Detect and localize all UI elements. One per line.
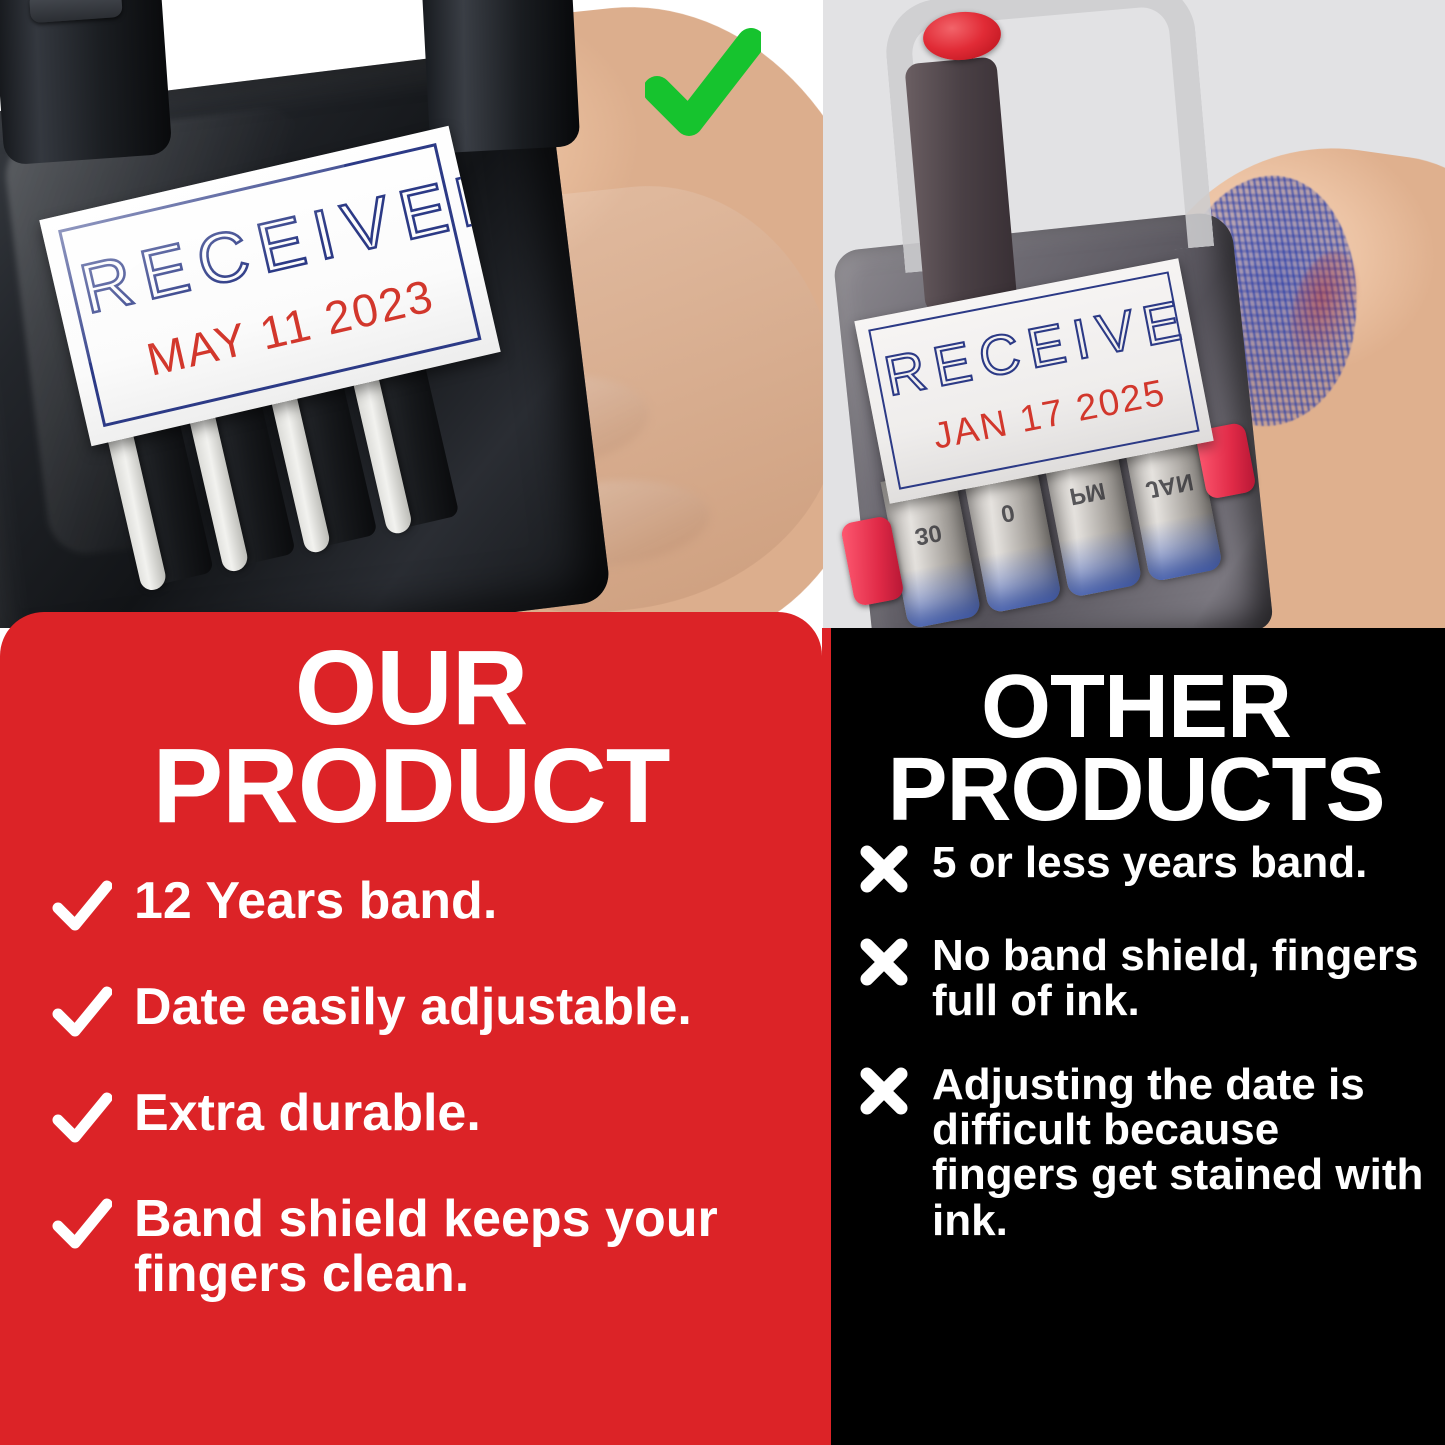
other-products-heading-line2: PRODUCTS	[836, 749, 1436, 832]
list-item: 12 Years band.	[52, 874, 794, 936]
our-product-heading-line2: PRODUCT	[10, 738, 812, 836]
list-item-label: 5 or less years band.	[932, 840, 1367, 885]
list-item-label: No band shield, fingers full of ink.	[932, 933, 1432, 1024]
list-item-label: Date easily adjustable.	[134, 980, 692, 1035]
list-item-label: Extra durable.	[134, 1086, 481, 1141]
stamp-handle-left-post	[0, 0, 172, 165]
infographic-canvas: RECEIVED MAY 11 2023 30	[0, 0, 1445, 1445]
check-icon	[52, 984, 112, 1042]
our-product-panel: OUR PRODUCT 12 Years band. Date easily	[0, 612, 822, 1445]
list-item: 5 or less years band.	[858, 840, 1438, 895]
our-product-bullet-list: 12 Years band. Date easily adjustable. E…	[52, 874, 794, 1346]
other-products-bullet-list: 5 or less years band. No band shield, fi…	[858, 840, 1438, 1281]
other-products-heading: OTHER PRODUCTS	[836, 666, 1436, 832]
other-products-heading-line1: OTHER	[836, 666, 1436, 749]
list-item-label: Adjusting the date is difficult because …	[932, 1062, 1432, 1243]
list-item-label: 12 Years band.	[134, 874, 497, 929]
list-item: No band shield, fingers full of ink.	[858, 933, 1438, 1024]
our-product-photo: RECEIVED MAY 11 2023	[0, 0, 823, 628]
check-icon	[52, 878, 112, 936]
check-icon	[52, 1090, 112, 1148]
photo-comparison-row: RECEIVED MAY 11 2023 30	[0, 0, 1445, 628]
cross-icon	[858, 936, 910, 988]
cross-icon	[858, 1065, 910, 1117]
panel-divider-strip	[822, 628, 831, 1445]
list-item: Extra durable.	[52, 1086, 794, 1148]
other-products-panel: OTHER PRODUCTS 5 or less years band. N	[822, 628, 1445, 1445]
check-icon	[52, 1196, 112, 1254]
list-item: Date easily adjustable.	[52, 980, 794, 1042]
list-item: Adjusting the date is difficult because …	[858, 1062, 1438, 1243]
our-product-heading-line1: OUR	[10, 640, 812, 738]
our-product-heading: OUR PRODUCT	[10, 640, 812, 835]
list-item-label: Band shield keeps your fingers clean.	[134, 1192, 774, 1302]
cross-icon	[858, 843, 910, 895]
green-check-icon	[645, 28, 761, 140]
other-products-photo: 30 0 PM JAN	[823, 0, 1445, 628]
list-item: Band shield keeps your fingers clean.	[52, 1192, 794, 1302]
